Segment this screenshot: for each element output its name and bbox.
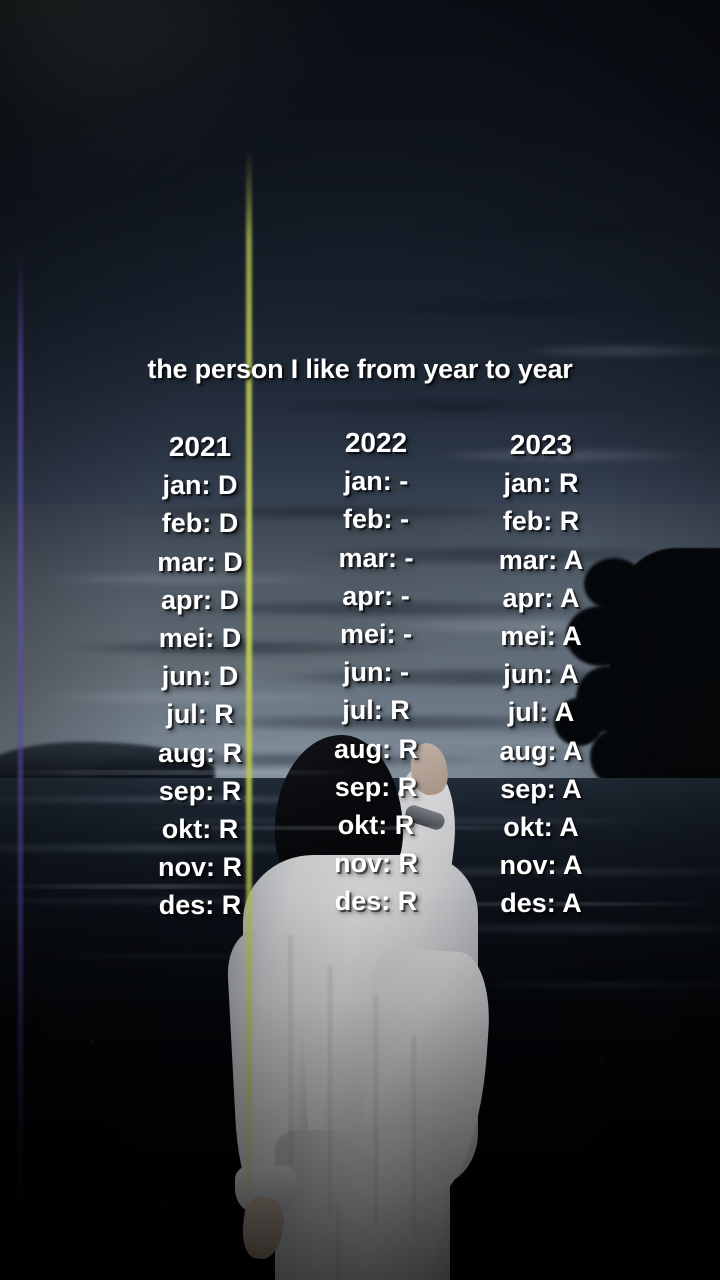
entry-2023-mar: mar: A [461, 541, 621, 579]
entry-2023-nov: nov: A [461, 846, 621, 884]
entry-2022-sep: sep: R [296, 768, 456, 806]
year-heading-2023: 2023 [461, 426, 621, 464]
year-column-2023: 2023 jan: R feb: R mar: A apr: A mei: A … [461, 426, 621, 923]
entry-2021-feb: feb: D [120, 504, 280, 542]
entry-2021-mei: mei: D [120, 619, 280, 657]
entry-2021-okt: okt: R [120, 810, 280, 848]
entry-2021-aug: aug: R [120, 734, 280, 772]
entry-2021-jun: jun: D [120, 657, 280, 695]
entry-2021-des: des: R [120, 886, 280, 924]
entry-2021-jan: jan: D [120, 466, 280, 504]
year-heading-2022: 2022 [296, 424, 456, 462]
entry-2023-sep: sep: A [461, 770, 621, 808]
entry-2023-jun: jun: A [461, 655, 621, 693]
entry-2023-jan: jan: R [461, 464, 621, 502]
text-overlay: the person I like from year to year 2021… [0, 0, 720, 1280]
year-column-2022: 2022 jan: - feb: - mar: - apr: - mei: - … [296, 424, 456, 921]
entry-2022-mei: mei: - [296, 615, 456, 653]
entry-2021-jul: jul: R [120, 695, 280, 733]
entry-2022-mar: mar: - [296, 539, 456, 577]
entry-2022-apr: apr: - [296, 577, 456, 615]
entry-2022-jul: jul: R [296, 691, 456, 729]
entry-2021-sep: sep: R [120, 772, 280, 810]
entry-2022-jan: jan: - [296, 462, 456, 500]
entry-2022-nov: nov: R [296, 844, 456, 882]
entry-2022-jun: jun: - [296, 653, 456, 691]
entry-2023-jul: jul: A [461, 693, 621, 731]
entry-2023-mei: mei: A [461, 617, 621, 655]
screenshot-canvas: the person I like from year to year 2021… [0, 0, 720, 1280]
entry-2022-feb: feb: - [296, 500, 456, 538]
entry-2021-apr: apr: D [120, 581, 280, 619]
entry-2023-des: des: A [461, 884, 621, 922]
year-columns: 2021 jan: D feb: D mar: D apr: D mei: D … [0, 0, 720, 1280]
entry-2021-nov: nov: R [120, 848, 280, 886]
entry-2022-aug: aug: R [296, 730, 456, 768]
entry-2023-feb: feb: R [461, 502, 621, 540]
entry-2022-des: des: R [296, 882, 456, 920]
year-heading-2021: 2021 [120, 428, 280, 466]
entry-2023-aug: aug: A [461, 732, 621, 770]
year-column-2021: 2021 jan: D feb: D mar: D apr: D mei: D … [120, 428, 280, 925]
entry-2023-okt: okt: A [461, 808, 621, 846]
entry-2023-apr: apr: A [461, 579, 621, 617]
entry-2022-okt: okt: R [296, 806, 456, 844]
entry-2021-mar: mar: D [120, 543, 280, 581]
